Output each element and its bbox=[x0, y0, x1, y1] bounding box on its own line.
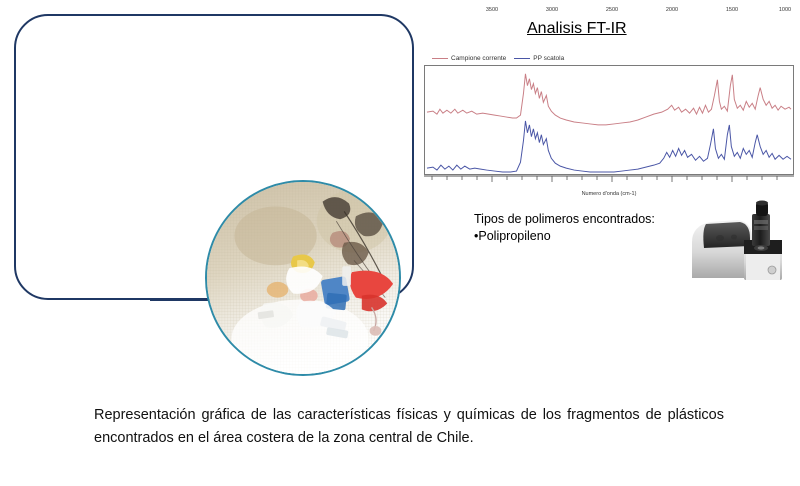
legend-item: PP scatola bbox=[514, 55, 564, 62]
legend-line-icon bbox=[514, 58, 530, 59]
legend-item: Campione corrente bbox=[432, 55, 506, 62]
legend-item-label: Campione corrente bbox=[451, 55, 506, 62]
photo-image bbox=[207, 182, 399, 374]
x-tick-label: 2500 bbox=[606, 7, 618, 13]
ftir-title: Analisis FT-IR bbox=[527, 20, 627, 38]
plastic-fragments-photo bbox=[205, 180, 401, 376]
x-tick-label: 1500 bbox=[726, 7, 738, 13]
polymer-types-heading: Tipos de polimeros encontrados: bbox=[474, 211, 655, 228]
polymer-types-block: Tipos de polimeros encontrados: •Polipro… bbox=[474, 211, 655, 245]
legend-item-label: PP scatola bbox=[533, 55, 564, 62]
ftir-spectrum-plot bbox=[424, 65, 794, 175]
x-tick-label: 1000 bbox=[779, 7, 791, 13]
legend-line-icon bbox=[432, 58, 448, 59]
ftir-legend: Campione corrente PP scatola bbox=[432, 55, 564, 62]
x-axis-label: Numero d'onda (cm-1) bbox=[582, 191, 637, 197]
polymer-types-item: •Polipropileno bbox=[474, 228, 655, 245]
figure-caption: Representación gráfica de las caracterís… bbox=[94, 404, 724, 450]
spectrum-line-campione bbox=[427, 74, 791, 125]
ftir-spectrometer-image bbox=[688, 198, 786, 282]
spectrum-line-pp bbox=[427, 121, 791, 172]
x-tick-label: 3500 bbox=[486, 7, 498, 13]
x-tick-label: 2000 bbox=[666, 7, 678, 13]
x-tick-label: 3000 bbox=[546, 7, 558, 13]
